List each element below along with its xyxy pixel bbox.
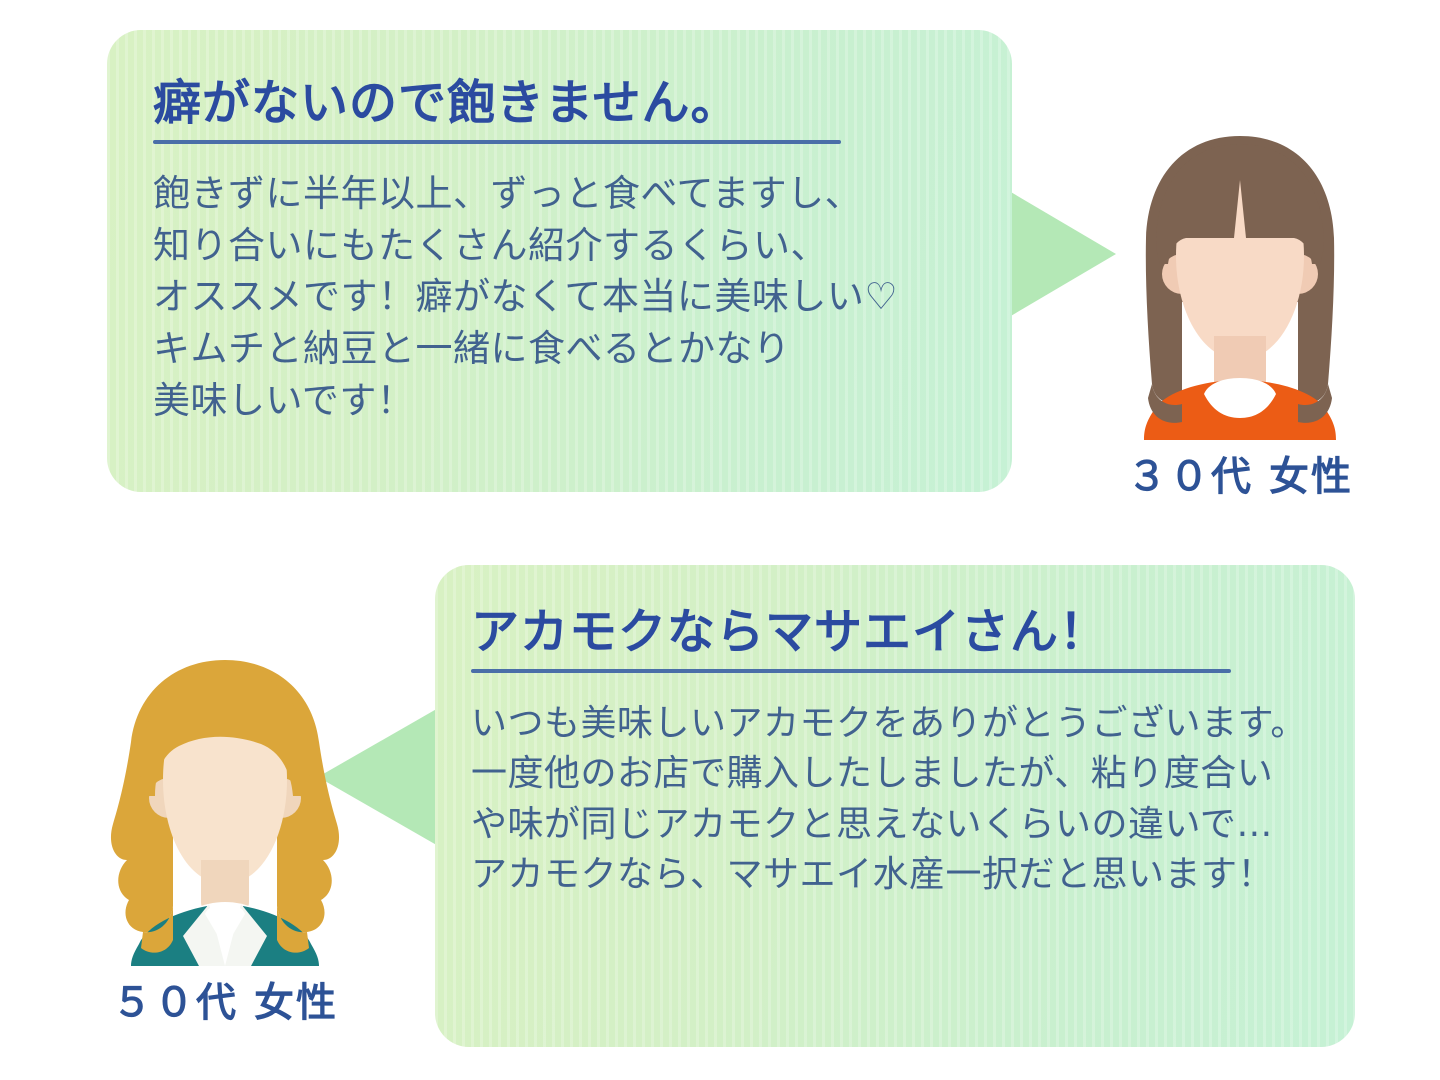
testimonial-1-body-line: 知り合いにもたくさん紹介するくらい、: [153, 220, 1012, 272]
testimonial-2-body: いつも美味しいアカモクをありがとうございます。 一度他のお店で購入したしましたが…: [471, 699, 1355, 901]
testimonial-1-body-line: キムチと納豆と一緒に食べるとかなり: [153, 323, 1012, 375]
testimonial-2-body-line: や味が同じアカモクと思えないくらいの違いで…: [471, 800, 1355, 850]
testimonial-1-body-line: 美味しいです！: [153, 375, 1012, 427]
testimonial-graphic: 癖がないので飽きません。 飽きずに半年以上、ずっと食べてますし、 知り合いにもた…: [0, 0, 1440, 1080]
testimonial-card-1: 癖がないので飽きません。 飽きずに半年以上、ずっと食べてますし、 知り合いにもた…: [107, 30, 1012, 492]
testimonial-1-body: 飽きずに半年以上、ずっと食べてますし、 知り合いにもたくさん紹介するくらい、 オ…: [153, 168, 1012, 427]
testimonial-card-2: アカモクならマサエイさん！ いつも美味しいアカモクをありがとうございます。 一度…: [435, 565, 1355, 1047]
testimonial-1-headline: 癖がないので飽きません。: [153, 78, 1012, 130]
testimonial-2-body-line: アカモクなら、マサエイ水産一択だと思います！: [471, 850, 1355, 900]
testimonial-1-body-line: オススメです！癖がなくて本当に美味しい♡: [153, 271, 1012, 323]
testimonial-2-body-line: いつも美味しいアカモクをありがとうございます。: [471, 699, 1355, 749]
testimonial-1-avatar-block: ３０代 女性: [1090, 122, 1390, 502]
testimonial-1-headline-underline: [153, 140, 841, 144]
avatar-woman-50s-icon: [75, 648, 375, 966]
testimonial-2-headline: アカモクならマサエイさん！: [471, 607, 1355, 659]
testimonial-1-body-line: 飽きずに半年以上、ずっと食べてますし、: [153, 168, 1012, 220]
avatar-woman-30s-icon: [1090, 122, 1390, 440]
testimonial-2-headline-underline: [471, 669, 1231, 673]
testimonial-1-avatar-caption: ３０代 女性: [1090, 444, 1390, 502]
testimonial-2-body-line: 一度他のお店で購入したしましたが、粘り度合い: [471, 749, 1355, 799]
testimonial-2-avatar-block: ５０代 女性: [75, 648, 375, 1028]
testimonial-2-avatar-caption: ５０代 女性: [75, 970, 375, 1028]
